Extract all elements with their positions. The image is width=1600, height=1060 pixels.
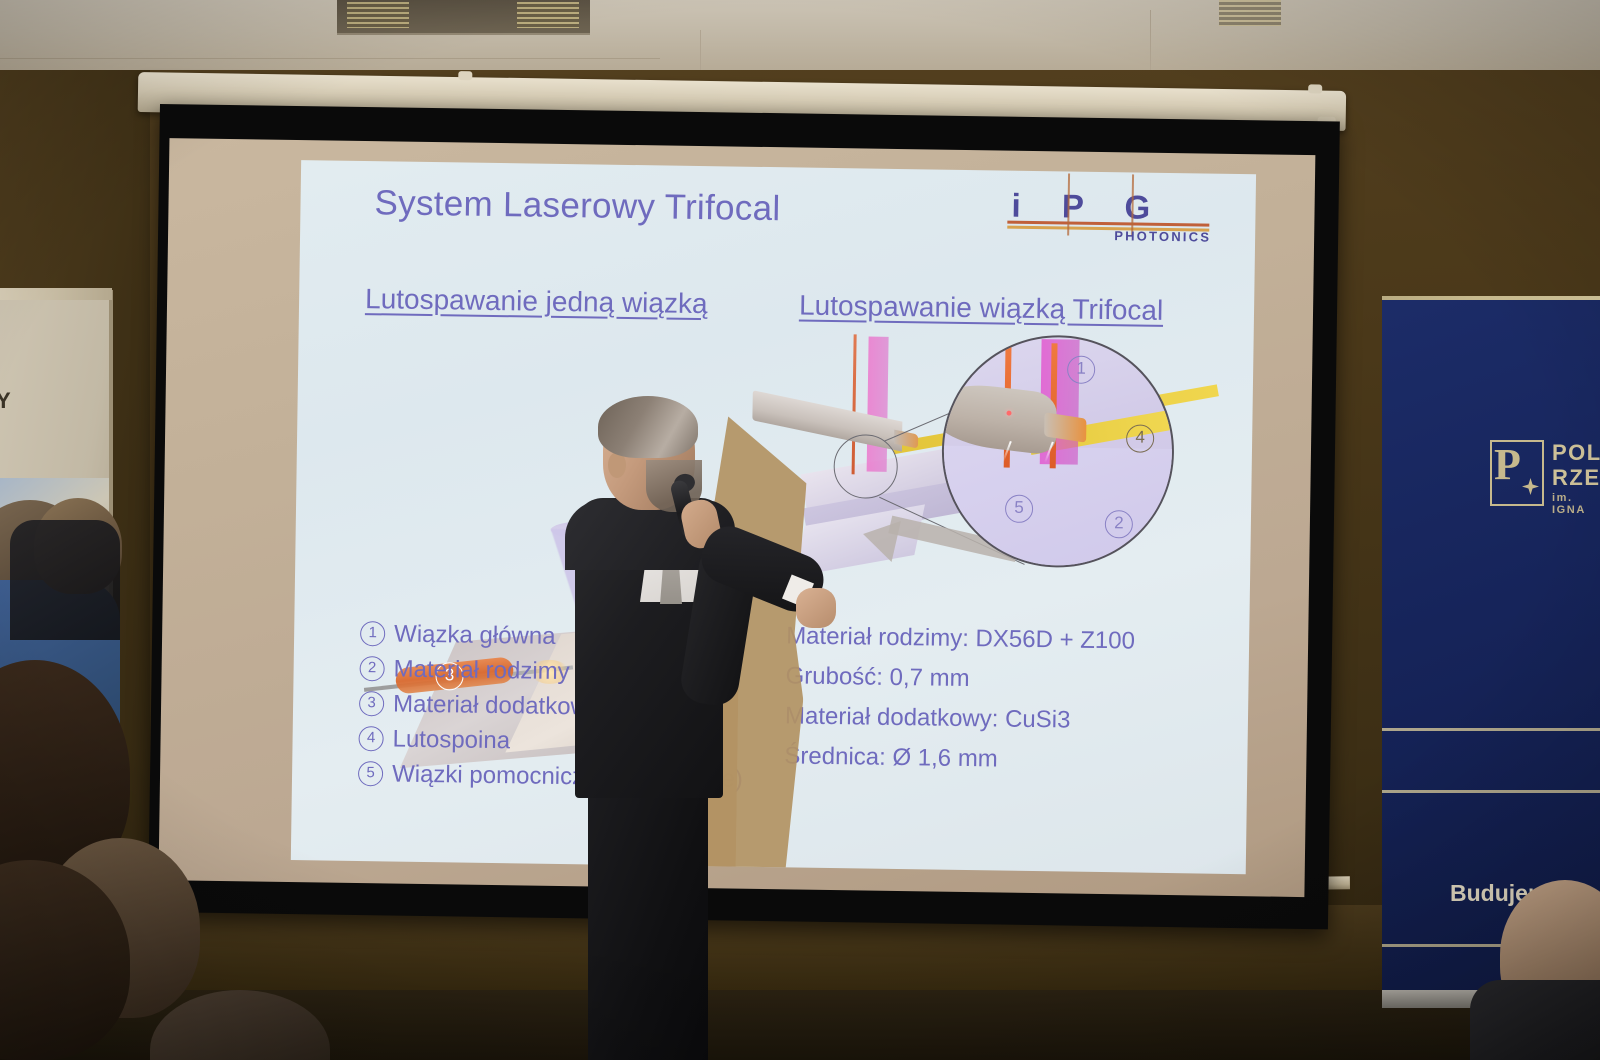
- ipg-logo-subtitle: PHOTONICS: [1114, 228, 1211, 244]
- inset-nozzle-cone: [940, 379, 1057, 456]
- list-item: Średnica: Ø 1,6 mm: [784, 742, 1133, 787]
- legend-number: 5: [358, 761, 383, 786]
- light-grille: [347, 2, 409, 28]
- banner-left-top-rail: [0, 288, 112, 300]
- banner-right-rule: [1382, 790, 1600, 793]
- spec-list: Materiał rodzimy: DX56D + Z100 Grubość: …: [784, 622, 1135, 787]
- legend-label: Lutospoina: [392, 725, 510, 755]
- university-name-line1: POLI: [1552, 440, 1600, 465]
- ipg-logo: i P G PHOTONICS: [1003, 183, 1214, 248]
- ceiling-seam: [0, 58, 660, 59]
- legend-number: 4: [358, 726, 383, 751]
- legend-number: 2: [359, 656, 384, 681]
- university-name: POLI RZES: [1552, 440, 1600, 490]
- heading-single-beam: Lutospawanie jedną wiązką: [365, 283, 708, 320]
- ceiling-light-panel: [337, 0, 590, 35]
- projected-slide: System Laserowy Trifocal i P G PHOTONICS…: [291, 160, 1256, 874]
- projection-screen-frame: System Laserowy Trifocal i P G PHOTONICS…: [148, 104, 1340, 929]
- ceiling-panel-gap: [1150, 10, 1151, 78]
- presenter-fist: [796, 588, 836, 628]
- inset-callout-1: 1: [1067, 355, 1095, 383]
- ceiling-light-panel-right: [1219, 0, 1281, 26]
- ceiling: [0, 0, 1600, 78]
- list-item: Materiał rodzimy: DX56D + Z100: [786, 622, 1135, 667]
- light-grille: [517, 2, 579, 28]
- magnified-inset: 1 2 4 5: [940, 334, 1175, 569]
- university-monogram: P: [1494, 438, 1521, 492]
- list-item: Grubość: 0,7 mm: [785, 662, 1134, 707]
- legend-label: Materiał rodzimy: [393, 655, 569, 686]
- legend-number: 3: [359, 691, 384, 716]
- audience-person-dark: [1470, 980, 1600, 1060]
- legend-label: Wiązka główna: [394, 620, 556, 650]
- projection-screen-surface: System Laserowy Trifocal i P G PHOTONICS…: [158, 138, 1315, 897]
- roller-knob: [1308, 84, 1322, 93]
- heading-trifocal-beam: Lutospawanie wiązką Trifocal: [799, 290, 1164, 327]
- inset-laser-spot: [1006, 411, 1011, 416]
- audience-person-dark: [10, 520, 120, 640]
- presenter-legs: [588, 780, 708, 1060]
- banner-left-text: Y: [0, 388, 11, 414]
- banner-right-rule: [1382, 728, 1600, 731]
- university-name-line2: RZES: [1552, 465, 1600, 490]
- legend-number: 1: [360, 621, 385, 646]
- university-patron: im. IGNA: [1552, 492, 1600, 516]
- slide-title: System Laserowy Trifocal: [374, 183, 781, 229]
- roller-knob: [458, 71, 472, 80]
- presenter-hair: [598, 396, 698, 458]
- list-item: Materiał dodatkowy: CuSi3: [785, 702, 1134, 747]
- conference-photo: System Laserowy Trifocal i P G PHOTONICS…: [0, 0, 1600, 1060]
